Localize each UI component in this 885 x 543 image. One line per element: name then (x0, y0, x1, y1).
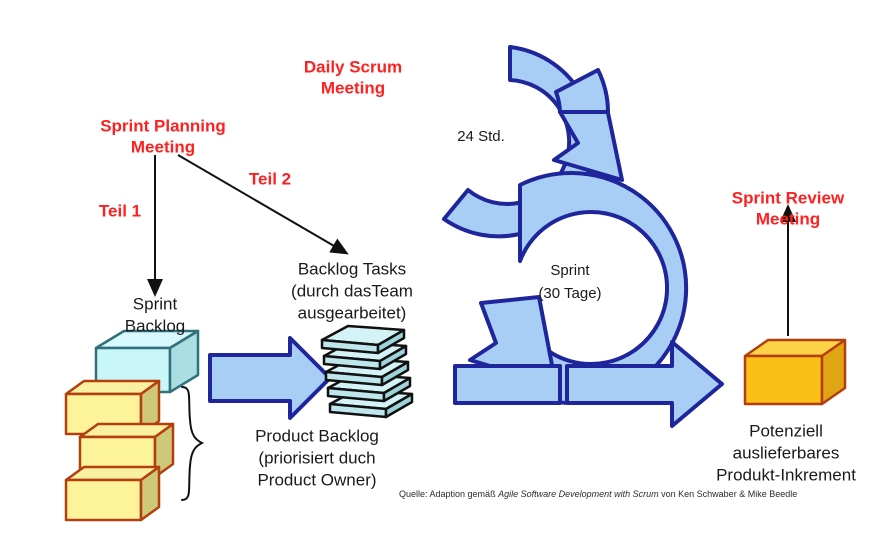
label-sprint-review-meeting-line2: Meeting (756, 209, 820, 228)
label-product-backlog-line2: (priorisiert duch (258, 448, 375, 467)
label-sprint-backlog: Sprint (133, 294, 178, 313)
source-suffix: von Ken Schwaber & Mike Beedle (659, 489, 798, 499)
product-increment-box (745, 340, 845, 404)
label-product-backlog: Product Backlog (255, 426, 379, 445)
label-daily-scrum-meeting: Daily Scrum (304, 57, 402, 76)
label-backlog-tasks-line2: (durch dasTeam (291, 281, 413, 300)
source-attribution: Quelle: Adaption gemäß Agile Software De… (399, 489, 797, 499)
label-increment-line3: Produkt-Inkrement (716, 465, 856, 484)
label-teil-1: Teil 1 (99, 201, 141, 220)
scrum-diagram-canvas: Sprint Planning Meeting Daily Scrum Meet… (0, 0, 885, 543)
backlog-task-card-stack (322, 326, 412, 417)
source-prefix: Quelle: Adaption gemäß (399, 489, 498, 499)
label-increment: Potenziell (749, 421, 823, 440)
label-24-std: 24 Std. (457, 128, 505, 145)
label-product-backlog-line3: Product Owner) (257, 470, 376, 489)
product-backlog-block-front (66, 480, 141, 520)
product-increment-box-front (745, 356, 822, 404)
label-backlog-tasks-line3: ausgearbeitet) (298, 303, 407, 322)
label-backlog-tasks: Backlog Tasks (298, 259, 406, 278)
scrum-process-diagram: Sprint Planning Meeting Daily Scrum Meet… (0, 0, 885, 543)
label-teil-2: Teil 2 (249, 169, 291, 188)
label-daily-scrum-meeting-line2: Meeting (321, 78, 385, 97)
label-increment-line2: auslieferbares (733, 443, 840, 462)
label-sprint-cycle: Sprint (550, 262, 590, 279)
label-sprint-cycle-duration: (30 Tage) (538, 285, 601, 302)
sprint-cycle-bottom-band-left (455, 366, 560, 403)
label-sprint-review-meeting: Sprint Review (732, 188, 845, 207)
label-sprint-planning-meeting: Sprint Planning (100, 116, 226, 135)
source-title: Agile Software Development with Scrum (497, 489, 659, 499)
product-backlog-block (66, 467, 159, 520)
label-sprint-backlog-line2: Backlog (125, 316, 185, 335)
label-sprint-planning-meeting-line2: Meeting (131, 137, 195, 156)
